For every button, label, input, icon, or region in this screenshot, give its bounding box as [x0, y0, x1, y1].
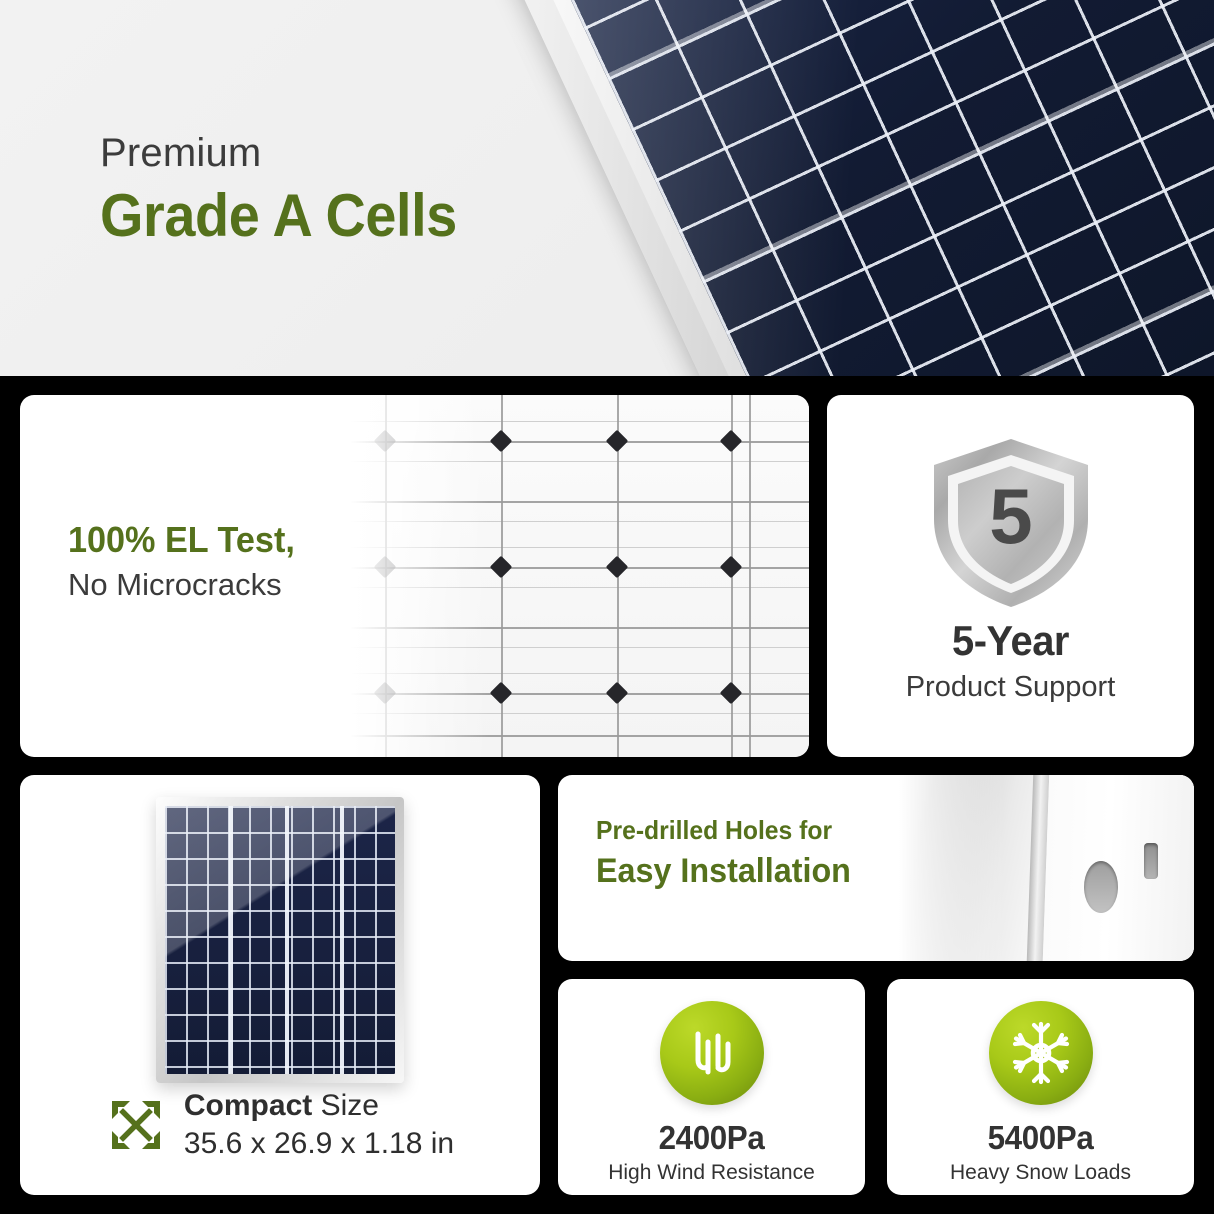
el-test-image: [279, 395, 809, 757]
hero-panel-frame: [504, 0, 1214, 376]
compact-panel-frame: [156, 797, 404, 1083]
predrilled-line2: Easy Installation: [596, 850, 851, 893]
card-warranty: 5 5-Year Product Support: [827, 395, 1194, 757]
snow-value: 5400Pa: [895, 1119, 1187, 1157]
warranty-subtitle: Product Support: [827, 671, 1194, 704]
frame-face: [1042, 775, 1194, 961]
el-test-subline: No Microcracks: [68, 566, 307, 603]
hero-title: Grade A Cells: [100, 184, 457, 249]
compact-title-rest: Size: [312, 1089, 379, 1122]
shield-icon: 5: [928, 435, 1094, 611]
hero-solar-panel-photo: [504, 0, 1214, 376]
compact-dimensions: 35.6 x 26.9 x 1.18 in: [184, 1126, 454, 1161]
oval-hole: [1084, 861, 1118, 913]
compact-title-bold: Compact: [184, 1089, 312, 1122]
feature-card-board: 100% EL Test, No Microcracks: [0, 376, 1214, 1214]
wind-subtitle: High Wind Resistance: [558, 1161, 865, 1185]
warranty-title: 5-Year: [836, 617, 1185, 665]
wind-icon: [681, 1022, 743, 1084]
snowflake-icon: [1008, 1020, 1074, 1086]
expand-arrows-icon: [106, 1095, 166, 1155]
el-test-headline: 100% EL Test,: [68, 519, 295, 560]
shield-icon-wrap: 5: [827, 435, 1194, 611]
snow-icon-circle: [989, 1001, 1093, 1105]
infographic-page: Premium Grade A Cells: [0, 0, 1214, 1214]
predrilled-text-block: Pre-drilled Holes for Easy Installation: [596, 815, 864, 893]
compact-panel-photo: [156, 797, 404, 1083]
compact-panel-glass: [165, 806, 395, 1074]
predrilled-line1: Pre-drilled Holes for: [596, 815, 851, 846]
hero-panel-sheen: [560, 0, 1214, 376]
warranty-text-block: 5-Year Product Support: [827, 617, 1194, 704]
wind-value: 2400Pa: [566, 1119, 858, 1157]
wind-text-block: 2400Pa High Wind Resistance: [558, 1119, 865, 1185]
card-wind-resistance: 2400Pa High Wind Resistance: [558, 979, 865, 1195]
slot-hole: [1144, 843, 1158, 879]
el-test-image-fade: [279, 395, 489, 757]
compact-title: Compact Size: [184, 1088, 454, 1123]
hero-panel-glass: [560, 0, 1214, 376]
card-compact-size: Compact Size 35.6 x 26.9 x 1.18 in: [20, 775, 540, 1195]
card-snow-load: 5400Pa Heavy Snow Loads: [887, 979, 1194, 1195]
snow-subtitle: Heavy Snow Loads: [887, 1161, 1194, 1185]
snow-text-block: 5400Pa Heavy Snow Loads: [887, 1119, 1194, 1185]
el-test-text-block: 100% EL Test, No Microcracks: [68, 519, 307, 604]
compact-panel-reflection: [165, 806, 395, 1074]
compact-text-block: Compact Size 35.6 x 26.9 x 1.18 in: [184, 1088, 454, 1161]
card-predrilled-holes: Pre-drilled Holes for Easy Installation: [558, 775, 1194, 961]
hero-kicker: Premium: [100, 132, 484, 174]
hero-section: Premium Grade A Cells: [0, 0, 1214, 376]
shield-number: 5: [989, 472, 1032, 560]
card-el-test: 100% EL Test, No Microcracks: [20, 395, 809, 757]
compact-text-row: Compact Size 35.6 x 26.9 x 1.18 in: [20, 1088, 540, 1161]
hero-text-block: Premium Grade A Cells: [100, 132, 484, 249]
predrilled-image-fade: [854, 775, 1004, 961]
predrilled-frame-image: [854, 775, 1194, 961]
wind-icon-circle: [660, 1001, 764, 1105]
